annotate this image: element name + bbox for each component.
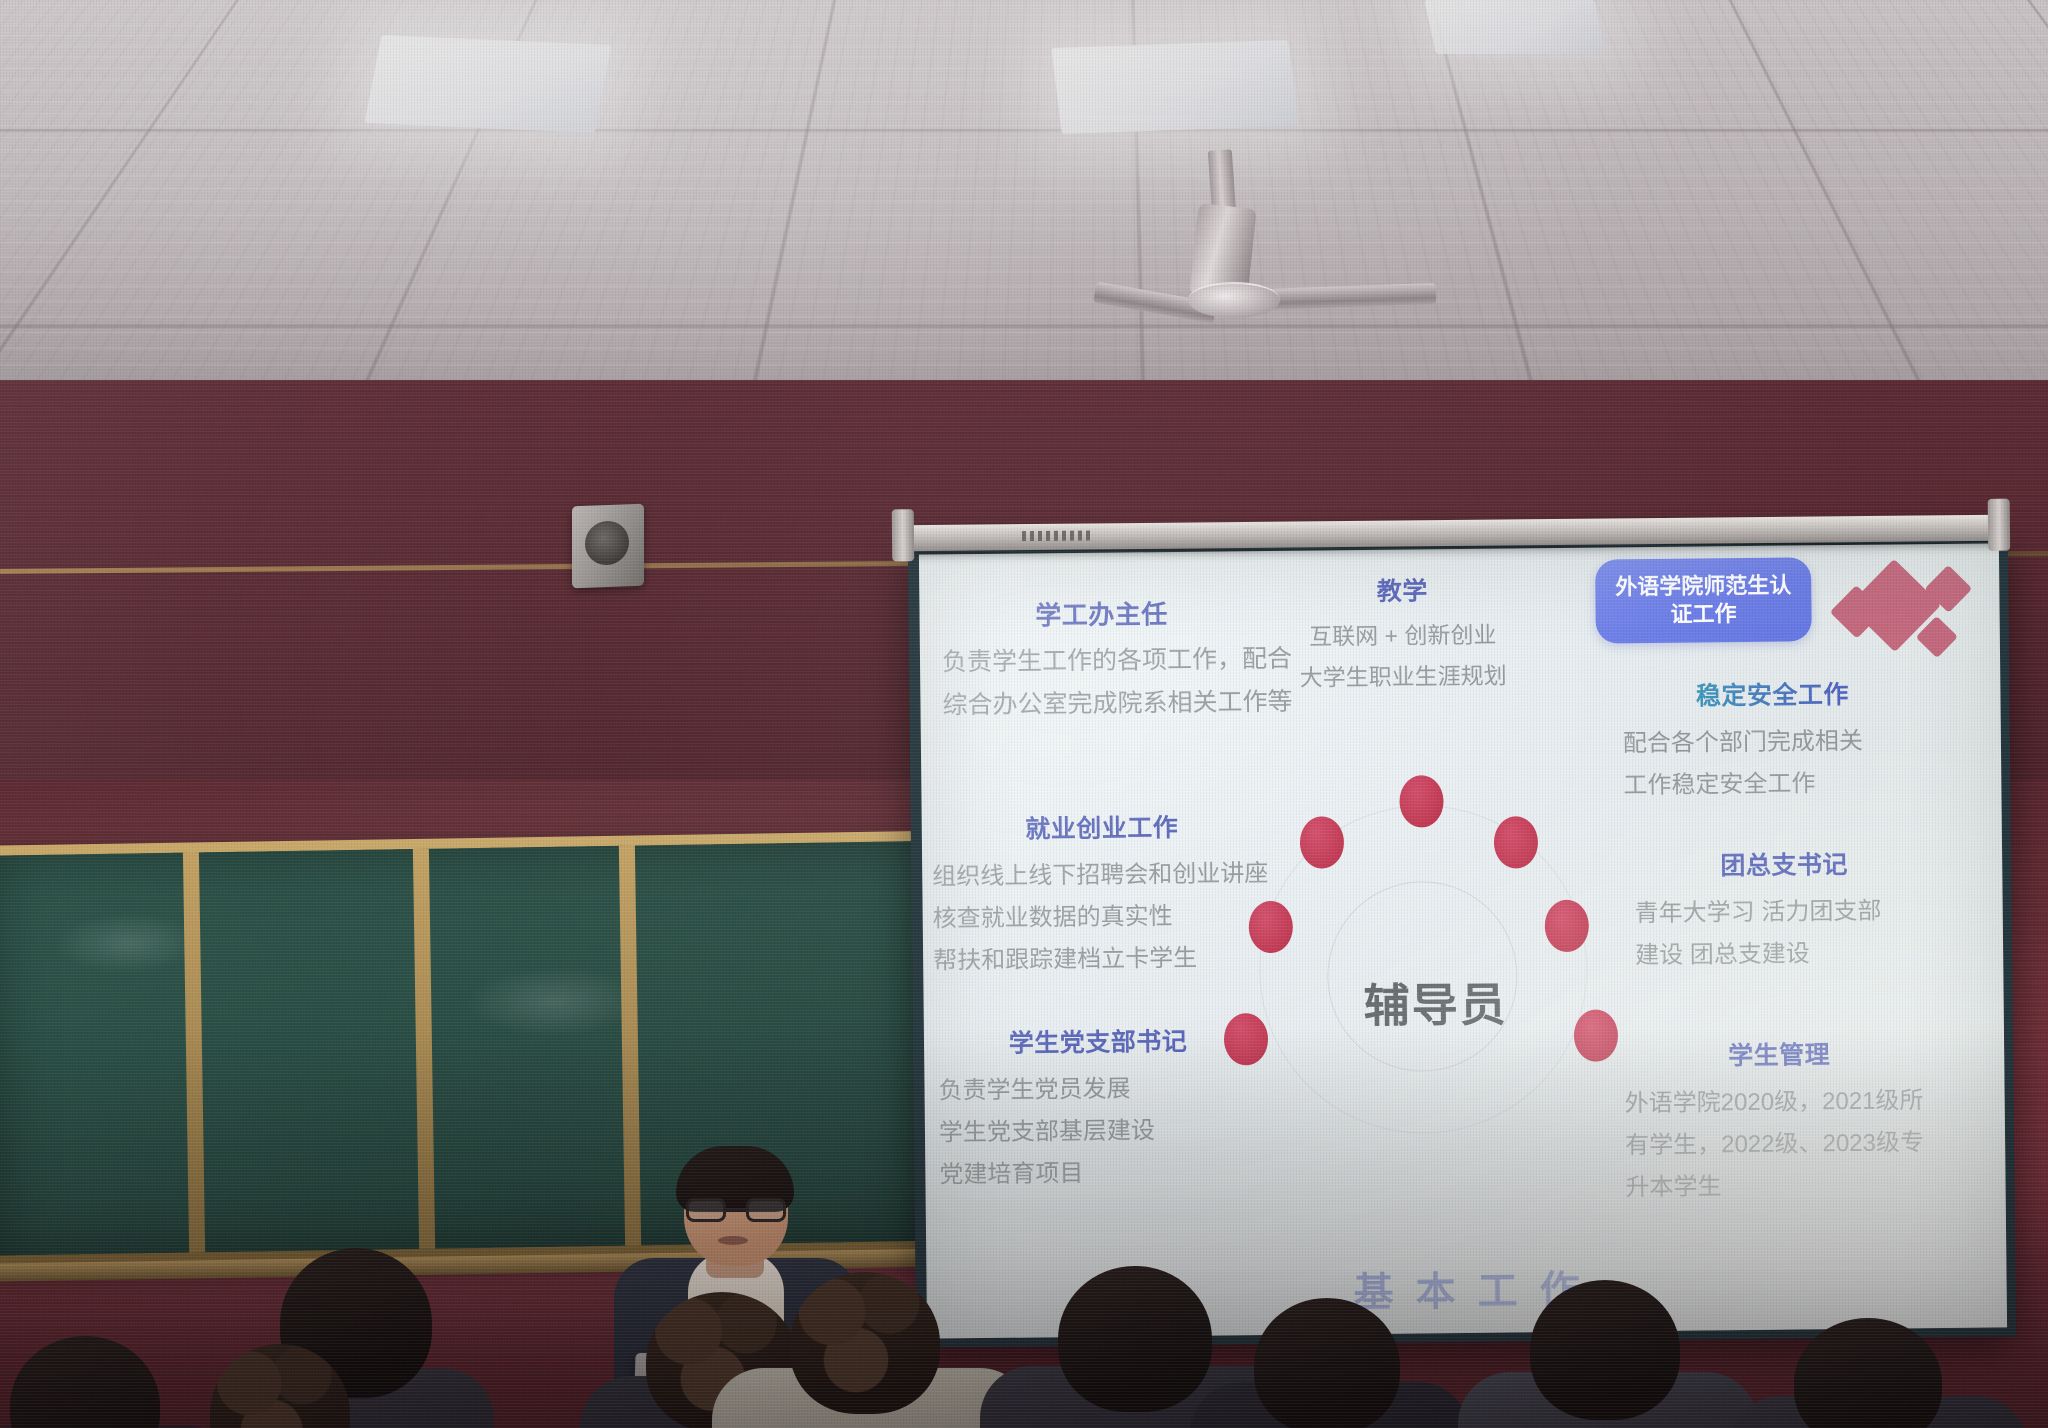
block-line: 党建培育项目 <box>939 1151 1259 1189</box>
slide-content: 外语学院师范生认证工作 学工办主任 负责学生工作的各项工作，配合 综合办公室完成… <box>919 543 2007 1338</box>
slide-block-xueshengguanli: 学生管理 外语学院2020级，2021级所 有学生，2022级、2023级专 升… <box>1624 1034 1936 1202</box>
diagram-dot <box>1545 900 1590 952</box>
audience-head <box>10 1336 160 1428</box>
diagram-dot <box>1224 1013 1269 1065</box>
chalk-smudge <box>465 965 646 1038</box>
audience-head <box>1530 1280 1680 1420</box>
diagram-dot <box>1574 1009 1619 1061</box>
block-heading: 稳定安全工作 <box>1622 674 1922 713</box>
diagram-dot <box>1494 816 1539 868</box>
center-diagram: 辅导员 <box>1221 769 1625 1113</box>
screen-brand-label <box>1022 530 1092 541</box>
block-line: 大学生职业生涯规划 <box>1278 656 1528 693</box>
block-line: 配合各个部门完成相关 <box>1623 720 1923 758</box>
block-line: 升本学生 <box>1625 1164 1935 1202</box>
block-line: 互联网 + 创新创业 <box>1278 615 1528 652</box>
audience-member <box>0 1336 230 1428</box>
block-line: 综合办公室完成院系相关工作等 <box>942 682 1262 721</box>
diagram-dot <box>1399 775 1444 827</box>
block-line: 负责学生党员发展 <box>938 1067 1258 1105</box>
screen-bracket <box>1988 499 2010 551</box>
screen-bracket <box>892 509 914 561</box>
block-line: 青年大学习 活力团支部 <box>1634 890 1934 928</box>
block-heading: 教学 <box>1277 570 1527 609</box>
projected-slide: 外语学院师范生认证工作 学工办主任 负责学生工作的各项工作，配合 综合办公室完成… <box>919 543 2007 1338</box>
block-line: 外语学院2020级，2021级所 <box>1624 1080 1934 1118</box>
diamond-decoration <box>1835 558 1986 670</box>
glasses-icon <box>686 1198 786 1222</box>
ceiling-fan <box>1150 150 1510 320</box>
slide-block-jiaoxue: 教学 互联网 + 创新创业 大学生职业生涯规划 <box>1277 570 1528 693</box>
block-line: 有学生，2022级、2023级专 <box>1625 1122 1935 1160</box>
block-heading: 学生管理 <box>1624 1034 1934 1073</box>
slide-block-tuanzong: 团总支书记 青年大学习 活力团支部 建设 团总支建设 <box>1634 844 1935 970</box>
fan-blade <box>1260 283 1437 310</box>
block-heading: 学工办主任 <box>941 593 1261 633</box>
slide-block-dangzhibu: 学生党支部书记 负责学生党员发展 学生党支部基层建设 党建培育项目 <box>938 1021 1260 1189</box>
block-line: 建设 团总支建设 <box>1635 932 1935 970</box>
diagram-dot <box>1249 901 1294 953</box>
audience-head <box>790 1272 940 1414</box>
slide-block-xuegong: 学工办主任 负责学生工作的各项工作，配合 综合办公室完成院系相关工作等 <box>941 593 1262 721</box>
center-label: 辅导员 <box>1363 969 1508 1037</box>
block-heading: 团总支书记 <box>1634 844 1934 883</box>
wall-speaker <box>572 504 644 589</box>
fan-hub <box>1188 282 1280 318</box>
audience-head <box>1058 1266 1212 1412</box>
chalk-smudge <box>54 912 205 974</box>
projector-screen: 外语学院师范生认证工作 学工办主任 负责学生工作的各项工作，配合 综合办公室完成… <box>908 536 2016 1347</box>
audience-head <box>1254 1298 1400 1428</box>
slide-block-wending: 稳定安全工作 配合各个部门完成相关 工作稳定安全工作 <box>1622 674 1923 800</box>
diagram-dot <box>1300 816 1345 868</box>
photo-scene: 外语学院师范生认证工作 学工办主任 负责学生工作的各项工作，配合 综合办公室完成… <box>0 0 2048 1428</box>
certification-badge: 外语学院师范生认证工作 <box>1595 557 1812 643</box>
block-line: 学生党支部基层建设 <box>939 1109 1259 1147</box>
presenter-mouth <box>718 1236 748 1245</box>
block-heading: 学生党支部书记 <box>938 1021 1258 1060</box>
block-line: 工作稳定安全工作 <box>1623 762 1923 800</box>
block-line: 负责学生工作的各项工作，配合 <box>942 639 1262 678</box>
